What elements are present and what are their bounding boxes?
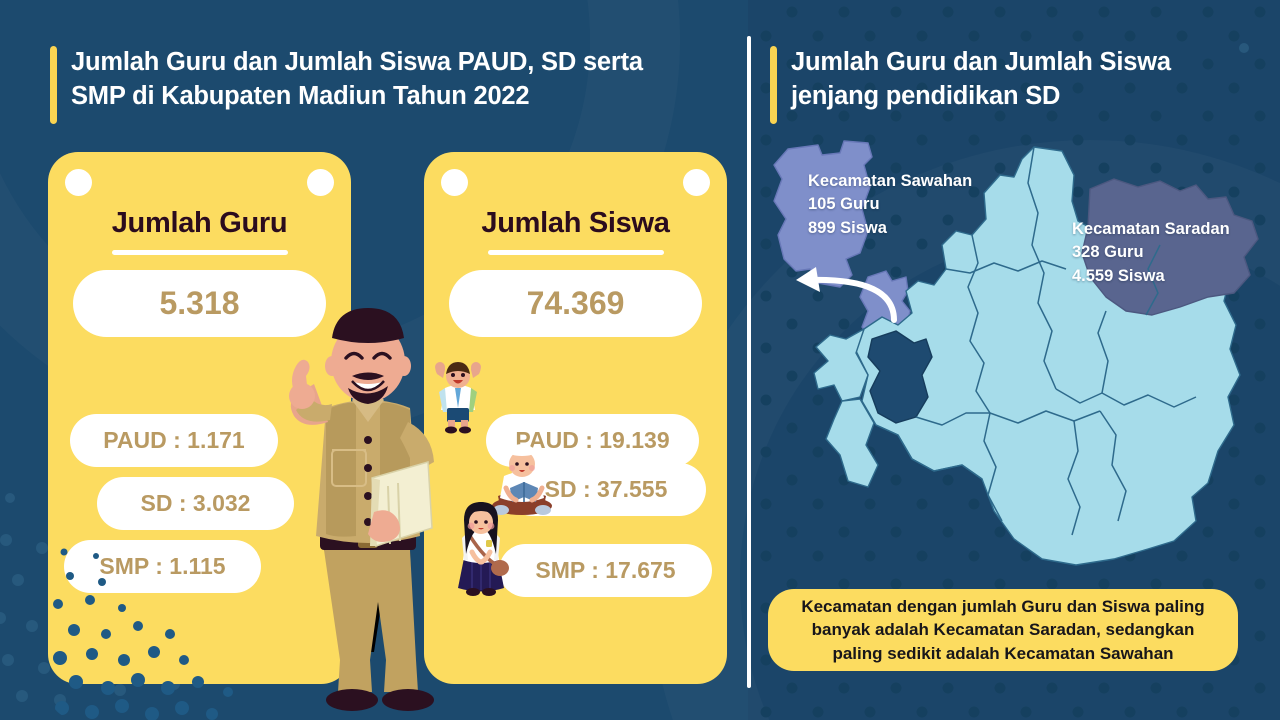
punch-hole-left-icon [441,169,468,196]
title-accent-bar-right [770,46,777,124]
left-title-text: Jumlah Guru dan Jumlah Siswa PAUD, SD se… [71,46,643,124]
summary-caption: Kecamatan dengan jumlah Guru dan Siswa p… [768,589,1238,671]
card-guru-underline [112,250,288,255]
map-label-sawahan: Kecamatan Sawahan 105 Guru 899 Siswa [808,170,972,240]
right-title-text: Jumlah Guru dan Jumlah Siswa jenjang pen… [791,46,1171,124]
punch-hole-right-icon [307,169,334,196]
card-dot-decoration [48,530,248,720]
student-girl-illustration [450,500,512,598]
pointer-arrow-icon [780,240,910,330]
left-title-block: Jumlah Guru dan Jumlah Siswa PAUD, SD se… [50,46,643,124]
card-siswa-row-smp: SMP : 17.675 [499,544,712,597]
panel-divider [747,36,751,688]
student-cheering-illustration [427,358,489,434]
infographic-canvas: Jumlah Guru dan Jumlah Siswa PAUD, SD se… [0,0,1280,720]
card-guru-title: Jumlah Guru [48,207,351,240]
card-guru-row-paud: PAUD : 1.171 [70,414,278,467]
card-siswa-title: Jumlah Siswa [424,207,727,240]
title-accent-bar-left [50,46,57,124]
card-siswa-underline [488,250,664,255]
map-region-west[interactable] [814,329,868,401]
right-title-block: Jumlah Guru dan Jumlah Siswa jenjang pen… [770,46,1171,124]
punch-hole-right-icon [683,169,710,196]
card-siswa-total-value: 74.369 [449,270,702,337]
punch-hole-left-icon [65,169,92,196]
map-label-saradan: Kecamatan Saradan 328 Guru 4.559 Siswa [1072,218,1230,288]
